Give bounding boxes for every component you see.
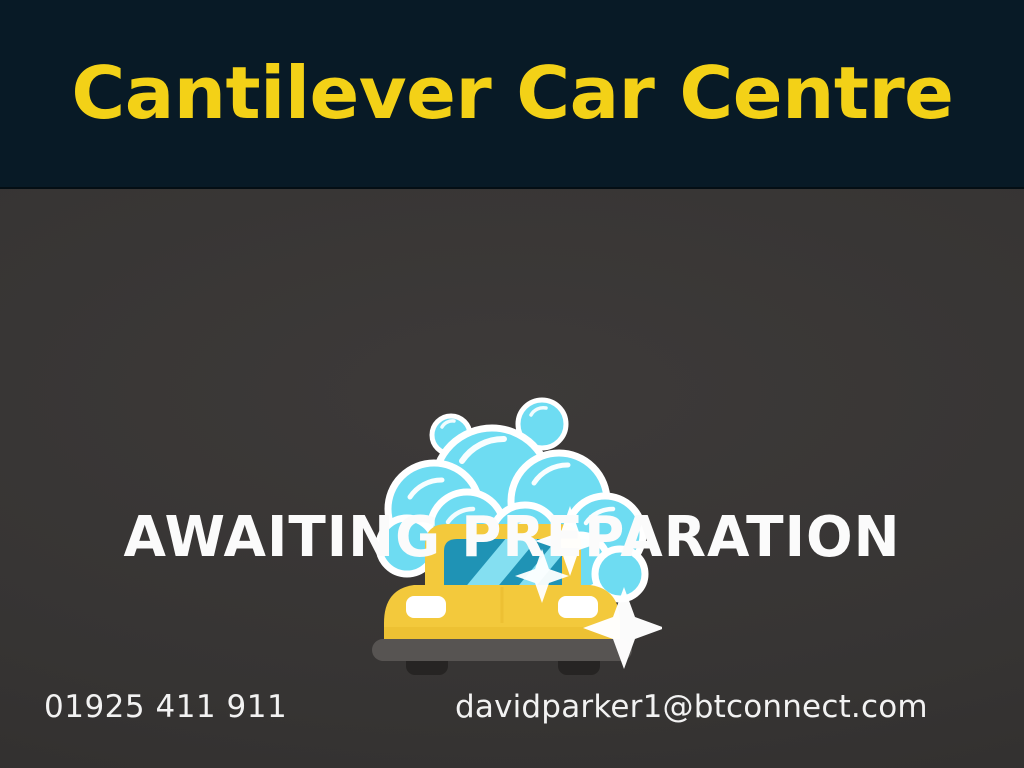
phone-number[interactable]: 01925 411 911 bbox=[44, 688, 287, 726]
status-headline: AWAITING PREPARATION bbox=[10, 505, 1014, 571]
contact-bar: 01925 411 911 davidparker1@btconnect.com bbox=[0, 688, 1024, 736]
dealer-brand-banner: Cantilever Car Centre bbox=[0, 0, 1024, 189]
vehicle-listing-placeholder-image: Cantilever Car Centre bbox=[0, 0, 1024, 768]
placeholder-body bbox=[0, 189, 1024, 768]
dealer-name-title: Cantilever Car Centre bbox=[71, 57, 953, 133]
email-address[interactable]: davidparker1@btconnect.com bbox=[455, 688, 928, 726]
